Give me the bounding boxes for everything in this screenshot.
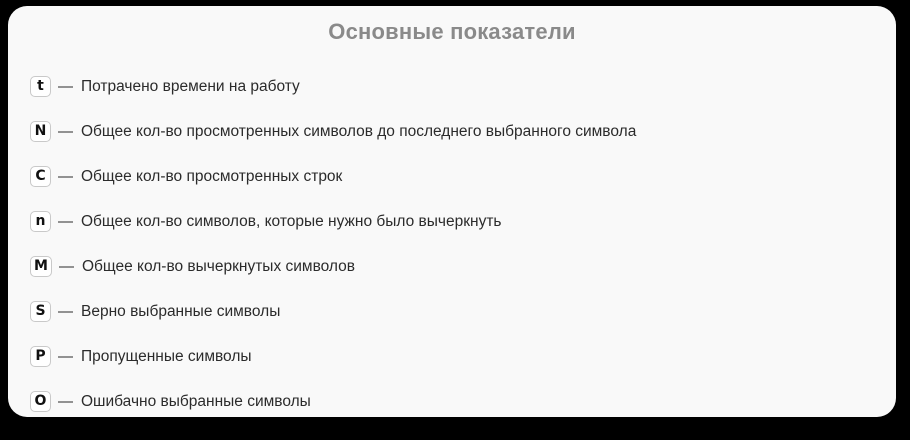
page-title: Основные показатели — [8, 6, 896, 45]
separator-dash: — — [58, 214, 73, 229]
metrics-legend-card: Основные показатели t — Потрачено времен… — [8, 6, 896, 417]
list-item: M — Общее кол-во вычеркнутых символов — [8, 244, 896, 289]
key-badge-c: C — [30, 166, 51, 187]
list-item: C — Общее кол-во просмотренных строк — [8, 154, 896, 199]
list-item: t — Потрачено времени на работу — [8, 64, 896, 109]
legend-list: t — Потрачено времени на работу N — Обще… — [8, 64, 896, 417]
key-badge-n-upper: N — [30, 121, 51, 142]
list-item: O — Ошибачно выбранные символы — [8, 379, 896, 417]
legend-description: Общее кол-во просмотренных символов до п… — [81, 123, 636, 141]
key-badge-p: P — [30, 346, 51, 367]
list-item: S — Верно выбранные символы — [8, 289, 896, 334]
legend-description: Потрачено времени на работу — [81, 78, 300, 96]
list-item: n — Общее кол-во символов, которые нужно… — [8, 199, 896, 244]
legend-description: Общее кол-во просмотренных строк — [81, 168, 342, 186]
key-badge-n-lower: n — [30, 211, 51, 232]
list-item: N — Общее кол-во просмотренных символов … — [8, 109, 896, 154]
legend-description: Пропущенные символы — [81, 348, 252, 366]
separator-dash: — — [58, 124, 73, 139]
key-badge-m: M — [30, 256, 52, 277]
separator-dash: — — [59, 259, 74, 274]
key-badge-t: t — [30, 76, 51, 97]
legend-description: Общее кол-во вычеркнутых символов — [82, 258, 355, 276]
separator-dash: — — [58, 349, 73, 364]
key-badge-o: O — [30, 391, 51, 412]
key-badge-s: S — [30, 301, 51, 322]
separator-dash: — — [58, 304, 73, 319]
legend-description: Верно выбранные символы — [81, 303, 280, 321]
legend-description: Общее кол-во символов, которые нужно был… — [81, 213, 502, 231]
separator-dash: — — [58, 79, 73, 94]
legend-description: Ошибачно выбранные символы — [81, 393, 311, 411]
separator-dash: — — [58, 169, 73, 184]
separator-dash: — — [58, 394, 73, 409]
list-item: P — Пропущенные символы — [8, 334, 896, 379]
